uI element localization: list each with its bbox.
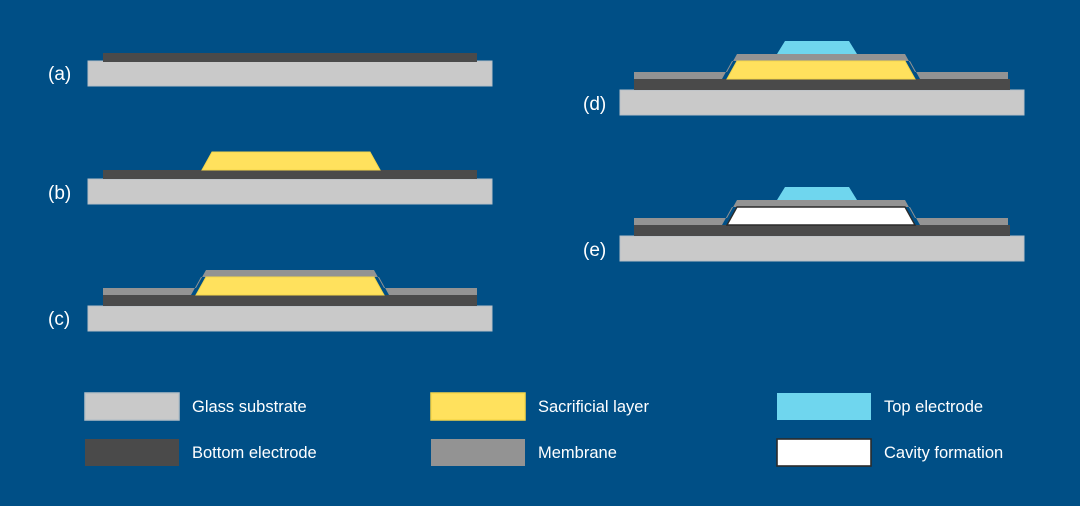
bottom-electrode-b [103,170,477,179]
legend-label-bottom-electrode: Bottom electrode [192,444,317,462]
legend-swatch-top-electrode [777,393,871,420]
bottom-electrode-a [103,53,477,62]
legend-label-top-electrode: Top electrode [884,398,983,416]
legend-swatch-sacrificial-layer [431,393,525,420]
step-label-b: (b) [48,183,71,204]
glass-substrate-e [620,236,1024,261]
legend-swatch-glass-substrate [85,393,179,420]
step-label-d: (d) [583,94,606,115]
legend-swatch-membrane [431,439,525,466]
bottom-electrode-e [634,225,1010,236]
legend-item-membrane: Membrane [431,439,617,466]
cavity-e [727,207,915,225]
bottom-electrode-c [103,295,477,306]
legend-item-sacrificial-layer: Sacrificial layer [431,393,649,420]
sacrificial-layer-d [727,61,915,79]
glass-substrate-a [88,61,492,86]
sacrificial-layer-c [196,277,384,295]
step-label-a: (a) [48,64,71,85]
legend-item-cavity-formation: Cavity formation [777,439,1003,466]
glass-substrate-d [620,90,1024,115]
legend-swatch-bottom-electrode [85,439,179,466]
legend-label-sacrificial-layer: Sacrificial layer [538,398,649,416]
bottom-electrode-d [634,79,1010,90]
glass-substrate-b [88,179,492,204]
legend-swatch-cavity-formation [777,439,871,466]
legend-label-membrane: Membrane [538,444,617,462]
sacrificial-layer-b [202,152,380,170]
step-label-e: (e) [583,240,606,261]
legend-label-glass-substrate: Glass substrate [192,398,307,416]
fabrication-process-diagram: (a) (b) (c) (d) (e) [0,0,1080,506]
legend-item-bottom-electrode: Bottom electrode [85,439,317,466]
legend-label-cavity-formation: Cavity formation [884,444,1003,462]
step-label-c: (c) [48,309,70,330]
legend-item-glass-substrate: Glass substrate [85,393,307,420]
top-electrode-d [777,41,857,54]
glass-substrate-c [88,306,492,331]
top-electrode-e [777,187,857,200]
process-step-a: (a) [48,53,492,86]
